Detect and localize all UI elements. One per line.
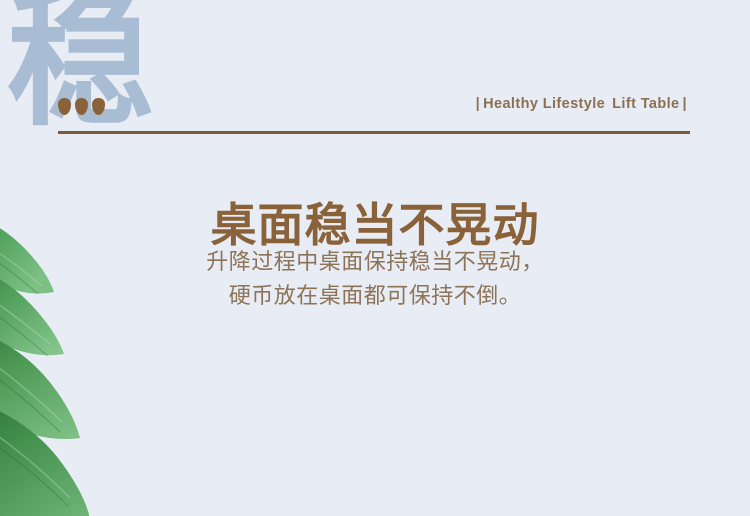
tagline-primary-text: Healthy Lifestyle bbox=[483, 96, 605, 112]
water-drop-group bbox=[58, 98, 114, 118]
promo-banner: 稳 |Healthy LifestyleLift Table| 桌面稳当不晃动 … bbox=[0, 0, 750, 516]
tagline-left-bar: | bbox=[473, 96, 483, 112]
water-drop-icon bbox=[92, 98, 105, 115]
subtitle: 升降过程中桌面保持稳当不晃动， 硬币放在桌面都可保持不倒。 bbox=[0, 246, 750, 314]
water-drop-icon bbox=[58, 98, 71, 115]
page-title: 桌面稳当不晃动 bbox=[0, 199, 750, 252]
tagline: |Healthy LifestyleLift Table| bbox=[473, 96, 690, 112]
water-drop-icon bbox=[75, 98, 88, 115]
subtitle-line-2: 硬币放在桌面都可保持不倒。 bbox=[0, 280, 750, 314]
tagline-secondary-text: Lift Table bbox=[612, 96, 679, 112]
tagline-right-bar: | bbox=[680, 96, 690, 112]
header-divider bbox=[58, 131, 690, 134]
subtitle-line-1: 升降过程中桌面保持稳当不晃动， bbox=[0, 246, 750, 280]
